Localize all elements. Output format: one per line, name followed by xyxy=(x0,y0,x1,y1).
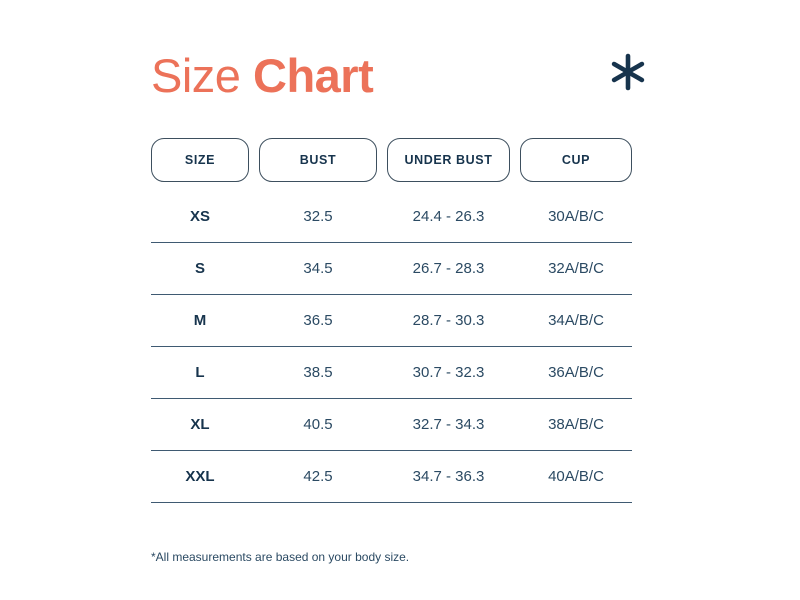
cell-under-bust-text: 28.7 - 30.3 xyxy=(413,312,485,329)
cell-bust-text: 32.5 xyxy=(303,208,332,225)
table-row: L 38.5 30.7 - 32.3 36A/B/C xyxy=(151,347,632,399)
title-text: Size Chart xyxy=(151,52,373,99)
cell-cup: 36A/B/C xyxy=(520,347,632,398)
cell-under-bust-text: 32.7 - 34.3 xyxy=(413,416,485,433)
cell-cup: 32A/B/C xyxy=(520,243,632,294)
title-light-word: Size xyxy=(151,49,240,102)
cell-cup-text: 36A/B/C xyxy=(548,364,604,381)
cell-under-bust-text: 34.7 - 36.3 xyxy=(413,468,485,485)
table-row: S 34.5 26.7 - 28.3 32A/B/C xyxy=(151,243,632,295)
cell-bust: 42.5 xyxy=(259,451,377,502)
footnote: *All measurements are based on your body… xyxy=(151,550,409,564)
cell-bust-text: 42.5 xyxy=(303,468,332,485)
cell-size: L xyxy=(151,347,249,398)
cell-bust: 38.5 xyxy=(259,347,377,398)
cell-bust-text: 34.5 xyxy=(303,260,332,277)
cell-cup: 34A/B/C xyxy=(520,295,632,346)
cell-under-bust-text: 26.7 - 28.3 xyxy=(413,260,485,277)
cell-bust: 40.5 xyxy=(259,399,377,450)
cell-size: M xyxy=(151,295,249,346)
column-header-bust-label: BUST xyxy=(300,153,336,167)
cell-bust: 36.5 xyxy=(259,295,377,346)
cell-size: XL xyxy=(151,399,249,450)
cell-under-bust: 32.7 - 34.3 xyxy=(387,399,510,450)
table-body: XS 32.5 24.4 - 26.3 30A/B/C S 34.5 26.7 … xyxy=(151,191,632,503)
page-title: Size Chart xyxy=(151,44,641,106)
cell-size: S xyxy=(151,243,249,294)
column-header-bust[interactable]: BUST xyxy=(259,138,377,182)
cell-size-text: XL xyxy=(190,416,209,433)
asterisk-icon xyxy=(606,50,650,94)
column-header-cup[interactable]: CUP xyxy=(520,138,632,182)
cell-size-text: XXL xyxy=(185,468,214,485)
cell-cup-text: 32A/B/C xyxy=(548,260,604,277)
cell-size-text: XS xyxy=(190,208,210,225)
cell-size-text: M xyxy=(194,312,207,329)
column-header-under-bust-label: UNDER BUST xyxy=(405,153,493,167)
cell-under-bust: 34.7 - 36.3 xyxy=(387,451,510,502)
table-row: M 36.5 28.7 - 30.3 34A/B/C xyxy=(151,295,632,347)
cell-size: XXL xyxy=(151,451,249,502)
cell-bust-text: 40.5 xyxy=(303,416,332,433)
cell-under-bust: 30.7 - 32.3 xyxy=(387,347,510,398)
cell-cup-text: 34A/B/C xyxy=(548,312,604,329)
cell-under-bust: 28.7 - 30.3 xyxy=(387,295,510,346)
cell-under-bust: 24.4 - 26.3 xyxy=(387,191,510,242)
cell-cup-text: 38A/B/C xyxy=(548,416,604,433)
size-chart-table: SIZE BUST UNDER BUST CUP XS 32.5 24.4 - … xyxy=(151,138,632,503)
cell-size-text: L xyxy=(195,364,204,381)
table-row: XXL 42.5 34.7 - 36.3 40A/B/C xyxy=(151,451,632,503)
cell-cup-text: 40A/B/C xyxy=(548,468,604,485)
cell-bust: 34.5 xyxy=(259,243,377,294)
cell-under-bust-text: 24.4 - 26.3 xyxy=(413,208,485,225)
cell-bust: 32.5 xyxy=(259,191,377,242)
table-row: XL 40.5 32.7 - 34.3 38A/B/C xyxy=(151,399,632,451)
cell-cup: 38A/B/C xyxy=(520,399,632,450)
cell-cup: 30A/B/C xyxy=(520,191,632,242)
cell-under-bust: 26.7 - 28.3 xyxy=(387,243,510,294)
cell-bust-text: 36.5 xyxy=(303,312,332,329)
cell-size: XS xyxy=(151,191,249,242)
column-header-cup-label: CUP xyxy=(562,153,590,167)
title-bold-word: Chart xyxy=(253,49,373,102)
cell-cup-text: 30A/B/C xyxy=(548,208,604,225)
table-row: XS 32.5 24.4 - 26.3 30A/B/C xyxy=(151,191,632,243)
cell-cup: 40A/B/C xyxy=(520,451,632,502)
column-header-size[interactable]: SIZE xyxy=(151,138,249,182)
cell-size-text: S xyxy=(195,260,205,277)
cell-bust-text: 38.5 xyxy=(303,364,332,381)
size-chart-page: Size Chart SIZE BUST UNDER BUST xyxy=(0,0,800,600)
column-header-under-bust[interactable]: UNDER BUST xyxy=(387,138,510,182)
cell-under-bust-text: 30.7 - 32.3 xyxy=(413,364,485,381)
table-header-row: SIZE BUST UNDER BUST CUP xyxy=(151,138,632,182)
column-header-size-label: SIZE xyxy=(185,153,215,167)
